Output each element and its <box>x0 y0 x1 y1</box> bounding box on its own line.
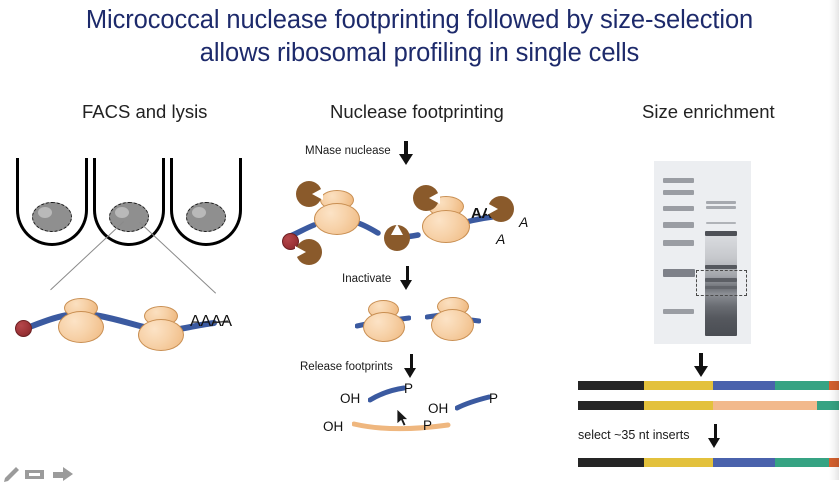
nucleus <box>115 207 129 218</box>
ladder-band-2 <box>663 190 694 195</box>
nucleus <box>38 207 52 218</box>
mnase-nuclease-5 <box>488 196 514 222</box>
construct-full-insert <box>578 381 839 390</box>
mnase-nuclease-2 <box>296 239 322 265</box>
section-heading-facs: FACS and lysis <box>82 101 207 123</box>
cell-1 <box>32 202 72 232</box>
arrow-inactivate-step <box>400 266 414 292</box>
segment-index-barcode <box>644 401 713 410</box>
construct-long-insert <box>578 401 839 410</box>
mouse-pointer <box>397 409 411 429</box>
ribosome-large-subunit <box>314 203 360 235</box>
segment-index-barcode <box>644 381 713 390</box>
mnase-nuclease-4 <box>413 185 439 211</box>
fragment-3-oh-label: OH <box>428 401 448 416</box>
arrow-select-step <box>708 424 722 450</box>
ribosome-large-subunit <box>363 312 405 342</box>
fragment-2-p-label: P <box>423 418 432 433</box>
segment-primer-site <box>775 381 829 390</box>
ribosome-2 <box>138 306 186 352</box>
segment-insert-long <box>713 401 817 410</box>
section-heading-size: Size enrichment <box>642 101 775 123</box>
arrow-after-gel <box>694 353 708 379</box>
ribosome-large-subunit <box>422 210 470 243</box>
fragment-3-strand <box>455 394 509 416</box>
ladder-band-3 <box>663 206 694 211</box>
arrow-mnase-step <box>399 141 413 167</box>
ladder-band-6 <box>663 269 695 277</box>
sample-band-top-1 <box>706 201 736 204</box>
fragment-1-oh-label: OH <box>340 391 360 406</box>
ribosome-large-subunit <box>431 309 474 341</box>
monosome-1 <box>355 300 411 348</box>
rectangle-icon[interactable] <box>24 468 46 481</box>
cell-3 <box>186 202 226 232</box>
mnase-nuclease-1 <box>296 181 322 207</box>
segment-adapter-5prime <box>578 458 644 467</box>
well-2 <box>93 158 165 246</box>
sample-band-top-2 <box>706 206 736 209</box>
section-heading-nuclease: Nuclease footprinting <box>330 101 504 123</box>
page-title: Micrococcal nuclease footprinting follow… <box>0 4 839 70</box>
slide-right-edge-shadow <box>829 0 839 480</box>
title-line-1: Micrococcal nuclease footprinting follow… <box>86 6 753 34</box>
step-label-mnase: MNase nuclease <box>305 145 391 157</box>
fragment-1-p-label: P <box>404 381 413 396</box>
segment-index-barcode <box>644 458 713 467</box>
well-1 <box>16 158 88 246</box>
nucleus <box>192 207 206 218</box>
fragment-2-oh-label: OH <box>323 419 343 434</box>
segment-adapter-5prime <box>578 381 644 390</box>
gel-excision-selection-box[interactable] <box>696 270 747 296</box>
mnase-nuclease-3 <box>384 225 410 251</box>
step-label-inactivate: Inactivate <box>342 273 391 285</box>
ladder-band-5 <box>663 240 694 246</box>
sample-band-mid <box>705 265 737 269</box>
title-line-2: allows ribosomal profiling in single cel… <box>0 37 839 70</box>
fragment-3-p-label: P <box>489 391 498 406</box>
sample-band-top-3 <box>706 222 736 224</box>
fragment-1-strand <box>368 385 424 407</box>
slide-canvas: Micrococcal nuclease footprinting follow… <box>0 0 839 480</box>
step-label-select-inserts: select ~35 nt inserts <box>578 428 690 442</box>
monosome-2 <box>425 297 481 347</box>
construct-selected <box>578 458 839 467</box>
ribosome-1 <box>58 298 106 344</box>
ladder-band-1 <box>663 178 694 183</box>
polya-tail-label: AAAA <box>190 313 232 331</box>
free-nucleotide-1: A <box>519 214 528 230</box>
segment-insert <box>713 381 775 390</box>
ribosome <box>363 300 407 344</box>
step-label-release: Release footprints <box>300 361 393 373</box>
ladder-band-7 <box>663 309 694 314</box>
segment-adapter-5prime <box>578 401 644 410</box>
ribosome <box>431 297 477 343</box>
pointer-icon[interactable] <box>52 465 74 481</box>
segment-primer-site <box>775 458 829 467</box>
arrow-release-step <box>404 354 418 380</box>
ladder-band-4 <box>663 222 694 228</box>
ribosome-large-subunit <box>58 311 104 343</box>
free-nucleotide-2: A <box>496 231 505 247</box>
segment-insert <box>713 458 775 467</box>
five-prime-cap <box>15 320 32 337</box>
well-3 <box>170 158 242 246</box>
ribosome-large-subunit <box>138 319 184 351</box>
